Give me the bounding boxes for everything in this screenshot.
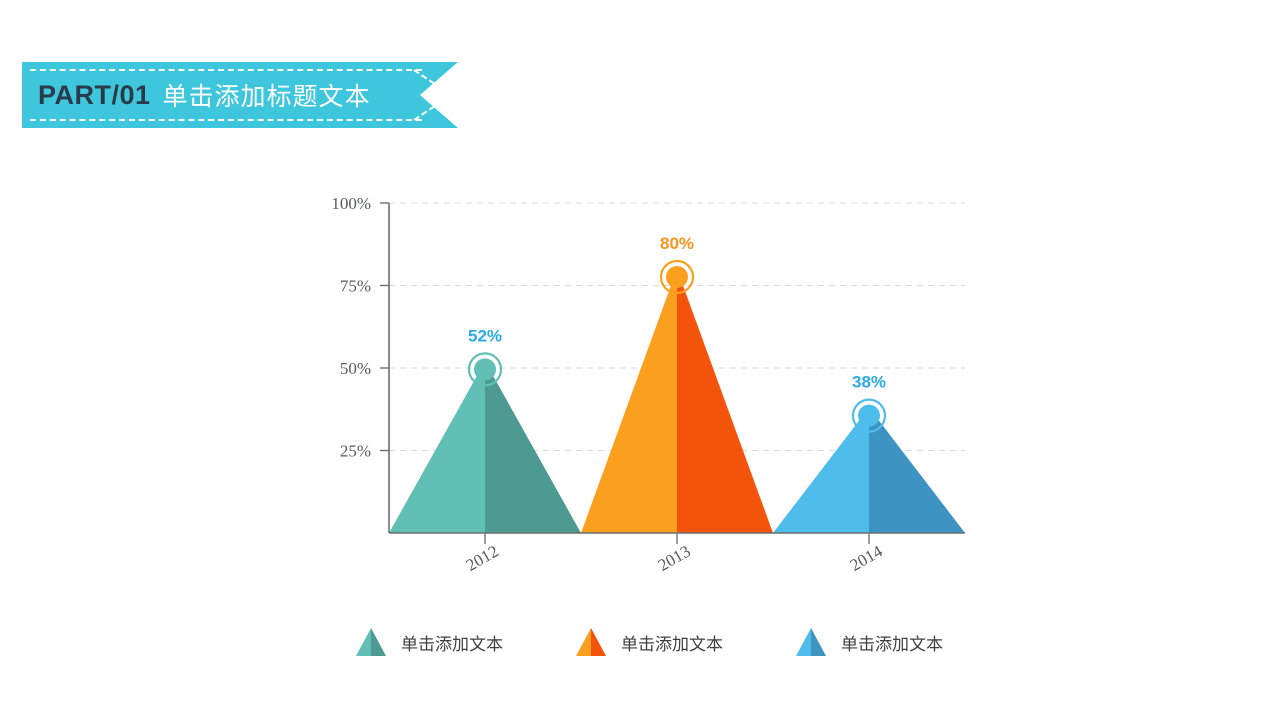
legend-item-2[interactable]: 单击添加文本 xyxy=(575,627,795,657)
legend-label-3: 单击添加文本 xyxy=(841,630,943,655)
y-axis-tick-label: 50% xyxy=(340,359,371,378)
pyramid-right-face xyxy=(869,408,965,533)
apex-marker-dot xyxy=(858,405,880,427)
data-value-label: 52% xyxy=(468,326,502,345)
data-value-label: 80% xyxy=(660,234,694,253)
apex-marker-dot xyxy=(666,266,688,288)
pyramid-chart: 25%50%75%100%20122013201452%80%38% xyxy=(0,0,1280,720)
legend-item-1[interactable]: 单击添加文本 xyxy=(355,627,575,657)
x-axis-tick-label: 2012 xyxy=(463,542,502,575)
triangle-icon xyxy=(355,627,387,657)
data-value-label: 38% xyxy=(852,373,886,392)
pyramid-left-face xyxy=(581,269,677,533)
pyramid-right-face xyxy=(485,361,581,533)
legend-item-3[interactable]: 单击添加文本 xyxy=(795,627,1015,657)
y-axis-tick-label: 75% xyxy=(340,277,371,296)
legend-label-2: 单击添加文本 xyxy=(621,630,723,655)
legend-triangle-3-svg xyxy=(795,627,827,657)
x-axis-tick-label: 2014 xyxy=(847,541,886,575)
apex-marker-dot xyxy=(474,358,496,380)
triangle-icon xyxy=(795,627,827,657)
legend-triangle-1-svg xyxy=(355,627,387,657)
y-axis-tick-label: 100% xyxy=(331,194,371,213)
chart-legend: 单击添加文本 单击添加文本 单击添加文本 xyxy=(355,618,1015,666)
triangle-icon xyxy=(575,627,607,657)
y-axis-tick-label: 25% xyxy=(340,442,371,461)
pyramid-right-face xyxy=(677,269,773,533)
legend-triangle-2-svg xyxy=(575,627,607,657)
legend-label-1: 单击添加文本 xyxy=(401,630,503,655)
x-axis-tick-label: 2013 xyxy=(655,542,694,575)
chart-svg: 25%50%75%100%20122013201452%80%38% xyxy=(0,0,1280,720)
pyramid-left-face xyxy=(773,408,869,533)
pyramid-left-face xyxy=(389,361,485,533)
